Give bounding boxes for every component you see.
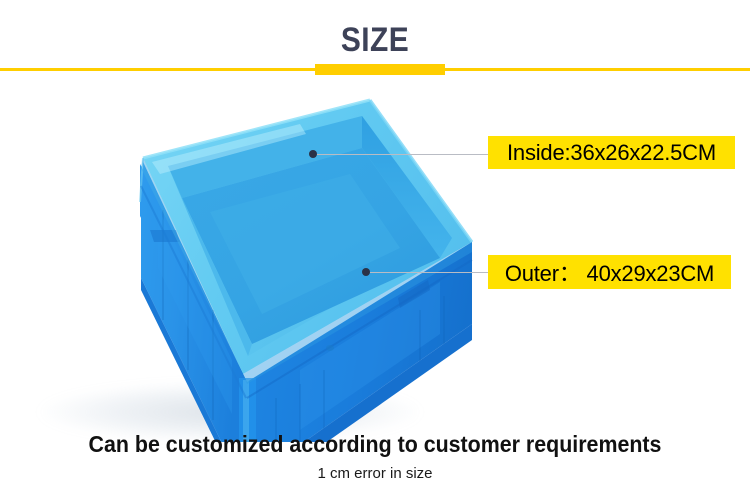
badge-inside-dimensions: Inside:36x26x22.5CM <box>488 136 735 169</box>
callout-leader-inside <box>317 154 488 155</box>
product-photo <box>0 82 480 442</box>
callout-dot-outer <box>362 268 370 276</box>
page-title: SIZE <box>45 20 705 60</box>
callout-leader-outer <box>370 272 488 273</box>
callout-dot-inside <box>309 150 317 158</box>
size-spec-banner: SIZE <box>0 0 750 499</box>
header-divider-accent-bar <box>315 64 445 75</box>
footer-headline: Can be customized according to customer … <box>26 430 724 458</box>
badge-outer-dimensions: Outer： 40x29x23CM <box>488 255 731 289</box>
footer-subtext: 1 cm error in size <box>0 464 750 484</box>
plastic-crate-illustration <box>0 82 480 442</box>
